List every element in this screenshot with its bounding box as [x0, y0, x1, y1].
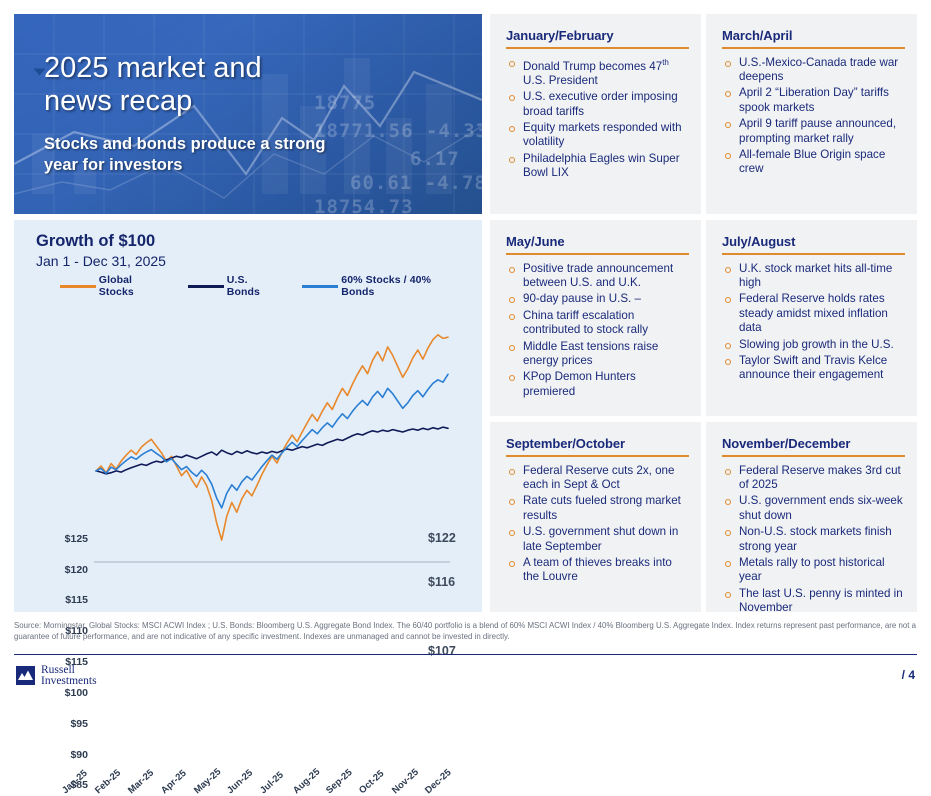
panel-bullet-list: U.S.-Mexico-Canada trade war deepens Apr…	[722, 56, 905, 177]
news-panel-jan-feb: January/February Donald Trump becomes 47…	[490, 14, 701, 214]
list-item: All-female Blue Origin space crew	[722, 148, 905, 177]
panel-rule	[722, 455, 905, 457]
panel-rule	[722, 47, 905, 49]
panel-rule	[506, 47, 689, 49]
list-item: China tariff escalation contributed to s…	[506, 309, 689, 338]
news-panel-sep-oct: September/October Federal Reserve cuts 2…	[490, 422, 701, 612]
panel-bullet-list: Federal Reserve makes 3rd cut of 2025 U.…	[722, 464, 905, 616]
list-item: Positive trade announcement between U.S.…	[506, 262, 689, 291]
list-item: Taylor Swift and Travis Kelce announce t…	[722, 354, 905, 383]
x-tick-may: May-25	[192, 766, 223, 796]
list-item: Non-U.S. stock markets finish strong yea…	[722, 525, 905, 554]
x-tick-mar: Mar-25	[126, 768, 156, 796]
list-item: April 9 tariff pause announced, promptin…	[722, 117, 905, 146]
y-tick-90: $90	[42, 749, 88, 761]
panel-heading: September/October	[506, 436, 689, 455]
russell-logo-mark-icon	[16, 666, 35, 685]
hero-subtitle: Stocks and bonds produce a strong year f…	[44, 134, 468, 176]
list-item: A team of thieves breaks into the Louvre	[506, 556, 689, 585]
panel-rule	[506, 455, 689, 457]
news-panel-mar-apr: March/April U.S.-Mexico-Canada trade war…	[706, 14, 917, 214]
panel-body: September/October Federal Reserve cuts 2…	[490, 422, 701, 595]
panel-body: March/April U.S.-Mexico-Canada trade war…	[706, 14, 917, 187]
slide: 18775 18771.56 -4.33 6.17 60.61 -4.78 18…	[0, 0, 931, 697]
panel-heading: July/August	[722, 234, 905, 253]
panel-heading: March/April	[722, 28, 905, 47]
x-tick-jul: Jul-25	[258, 770, 286, 796]
panel-rule	[722, 253, 905, 255]
x-tick-jun: Jun-25	[225, 768, 255, 796]
x-tick-oct: Oct-25	[357, 768, 386, 796]
logo-line-1: Russell	[41, 665, 97, 676]
list-item: U.S. executive order imposing broad tari…	[506, 90, 689, 119]
panel-body: May/June Positive trade announcement bet…	[490, 220, 701, 409]
list-item: U.K. stock market hits all-time high	[722, 262, 905, 291]
panel-heading: May/June	[506, 234, 689, 253]
list-item: U.S. government ends six-week shut down	[722, 494, 905, 523]
series-line-global-stocks	[96, 335, 448, 540]
news-panel-nov-dec: November/December Federal Reserve makes …	[706, 422, 917, 612]
list-item: Philadelphia Eagles win Super Bowl LIX	[506, 152, 689, 181]
panel-heading: January/February	[506, 28, 689, 47]
news-panel-jul-aug: July/August U.K. stock market hits all-t…	[706, 220, 917, 416]
list-item: The last U.S. penny is minted in Novembe…	[722, 587, 905, 616]
panel-body: November/December Federal Reserve makes …	[706, 422, 917, 626]
list-item: Metals rally to post historical year	[722, 556, 905, 585]
panel-body: January/February Donald Trump becomes 47…	[490, 14, 701, 191]
page-number: / 4	[902, 668, 915, 682]
russell-investments-logo: Russell Investments	[16, 665, 97, 686]
panel-body: July/August U.K. stock market hits all-t…	[706, 220, 917, 393]
y-tick-95: $95	[42, 718, 88, 730]
panel-bullet-list: Donald Trump becomes 47th U.S. President…	[506, 56, 689, 181]
news-panel-may-jun: May/June Positive trade announcement bet…	[490, 220, 701, 416]
end-label-global-stocks: $122	[428, 531, 456, 545]
x-tick-aug: Aug-25	[291, 766, 322, 796]
x-tick-nov: Nov-25	[390, 767, 421, 796]
panel-bullet-list: Federal Reserve cuts 2x, one each in Sep…	[506, 464, 689, 585]
list-item: U.S.-Mexico-Canada trade war deepens	[722, 56, 905, 85]
bullet-text-part: Donald Trump becomes 47	[523, 59, 662, 72]
list-item: Equity markets responded with volatility	[506, 121, 689, 150]
logo-line-2: Investments	[41, 676, 97, 687]
source-disclaimer: Source: Morningstar. Global Stocks: MSCI…	[14, 620, 917, 652]
bullet-text-part: U.S. President	[523, 74, 598, 87]
end-label-blend: $116	[428, 575, 455, 589]
list-item: Slowing job growth in the U.S.	[722, 338, 905, 352]
bullet-superscript: th	[662, 58, 669, 67]
list-item: Federal Reserve holds rates steady amids…	[722, 292, 905, 335]
panel-bullet-list: Positive trade announcement between U.S.…	[506, 262, 689, 400]
russell-logo-text: Russell Investments	[41, 665, 97, 686]
hero-title: 2025 market and news recap	[44, 52, 468, 118]
hero-banner: 18775 18771.56 -4.33 6.17 60.61 -4.78 18…	[14, 14, 482, 214]
chart-plot-area	[14, 220, 482, 612]
x-tick-sep: Sep-25	[324, 767, 355, 796]
hero-text-block: 2025 market and news recap Stocks and bo…	[44, 52, 468, 176]
panel-bullet-list: U.K. stock market hits all-time high Fed…	[722, 262, 905, 383]
x-tick-apr: Apr-25	[159, 768, 189, 796]
list-item: 90-day pause in U.S. –	[506, 292, 689, 306]
list-item: KPop Demon Hunters premiered	[506, 370, 689, 399]
list-item: Donald Trump becomes 47th U.S. President	[506, 56, 689, 89]
list-item: U.S. government shut down in late Septem…	[506, 525, 689, 554]
x-tick-dec: Dec-25	[423, 767, 454, 796]
hero-ghost-number-4: 18754.73	[314, 196, 414, 214]
list-item: Federal Reserve makes 3rd cut of 2025	[722, 464, 905, 493]
panel-rule	[506, 253, 689, 255]
footer-divider	[14, 654, 917, 655]
list-item: Middle East tensions raise energy prices	[506, 340, 689, 369]
panel-heading: November/December	[722, 436, 905, 455]
list-item: Federal Reserve cuts 2x, one each in Sep…	[506, 464, 689, 493]
y-tick-100: $100	[42, 687, 88, 699]
growth-chart-card: Growth of $100 Jan 1 - Dec 31, 2025 Glob…	[14, 220, 482, 612]
x-tick-feb: Feb-25	[93, 768, 123, 796]
list-item: April 2 “Liberation Day” tariffs spook m…	[722, 86, 905, 115]
list-item: Rate cuts fueled strong market results	[506, 494, 689, 523]
